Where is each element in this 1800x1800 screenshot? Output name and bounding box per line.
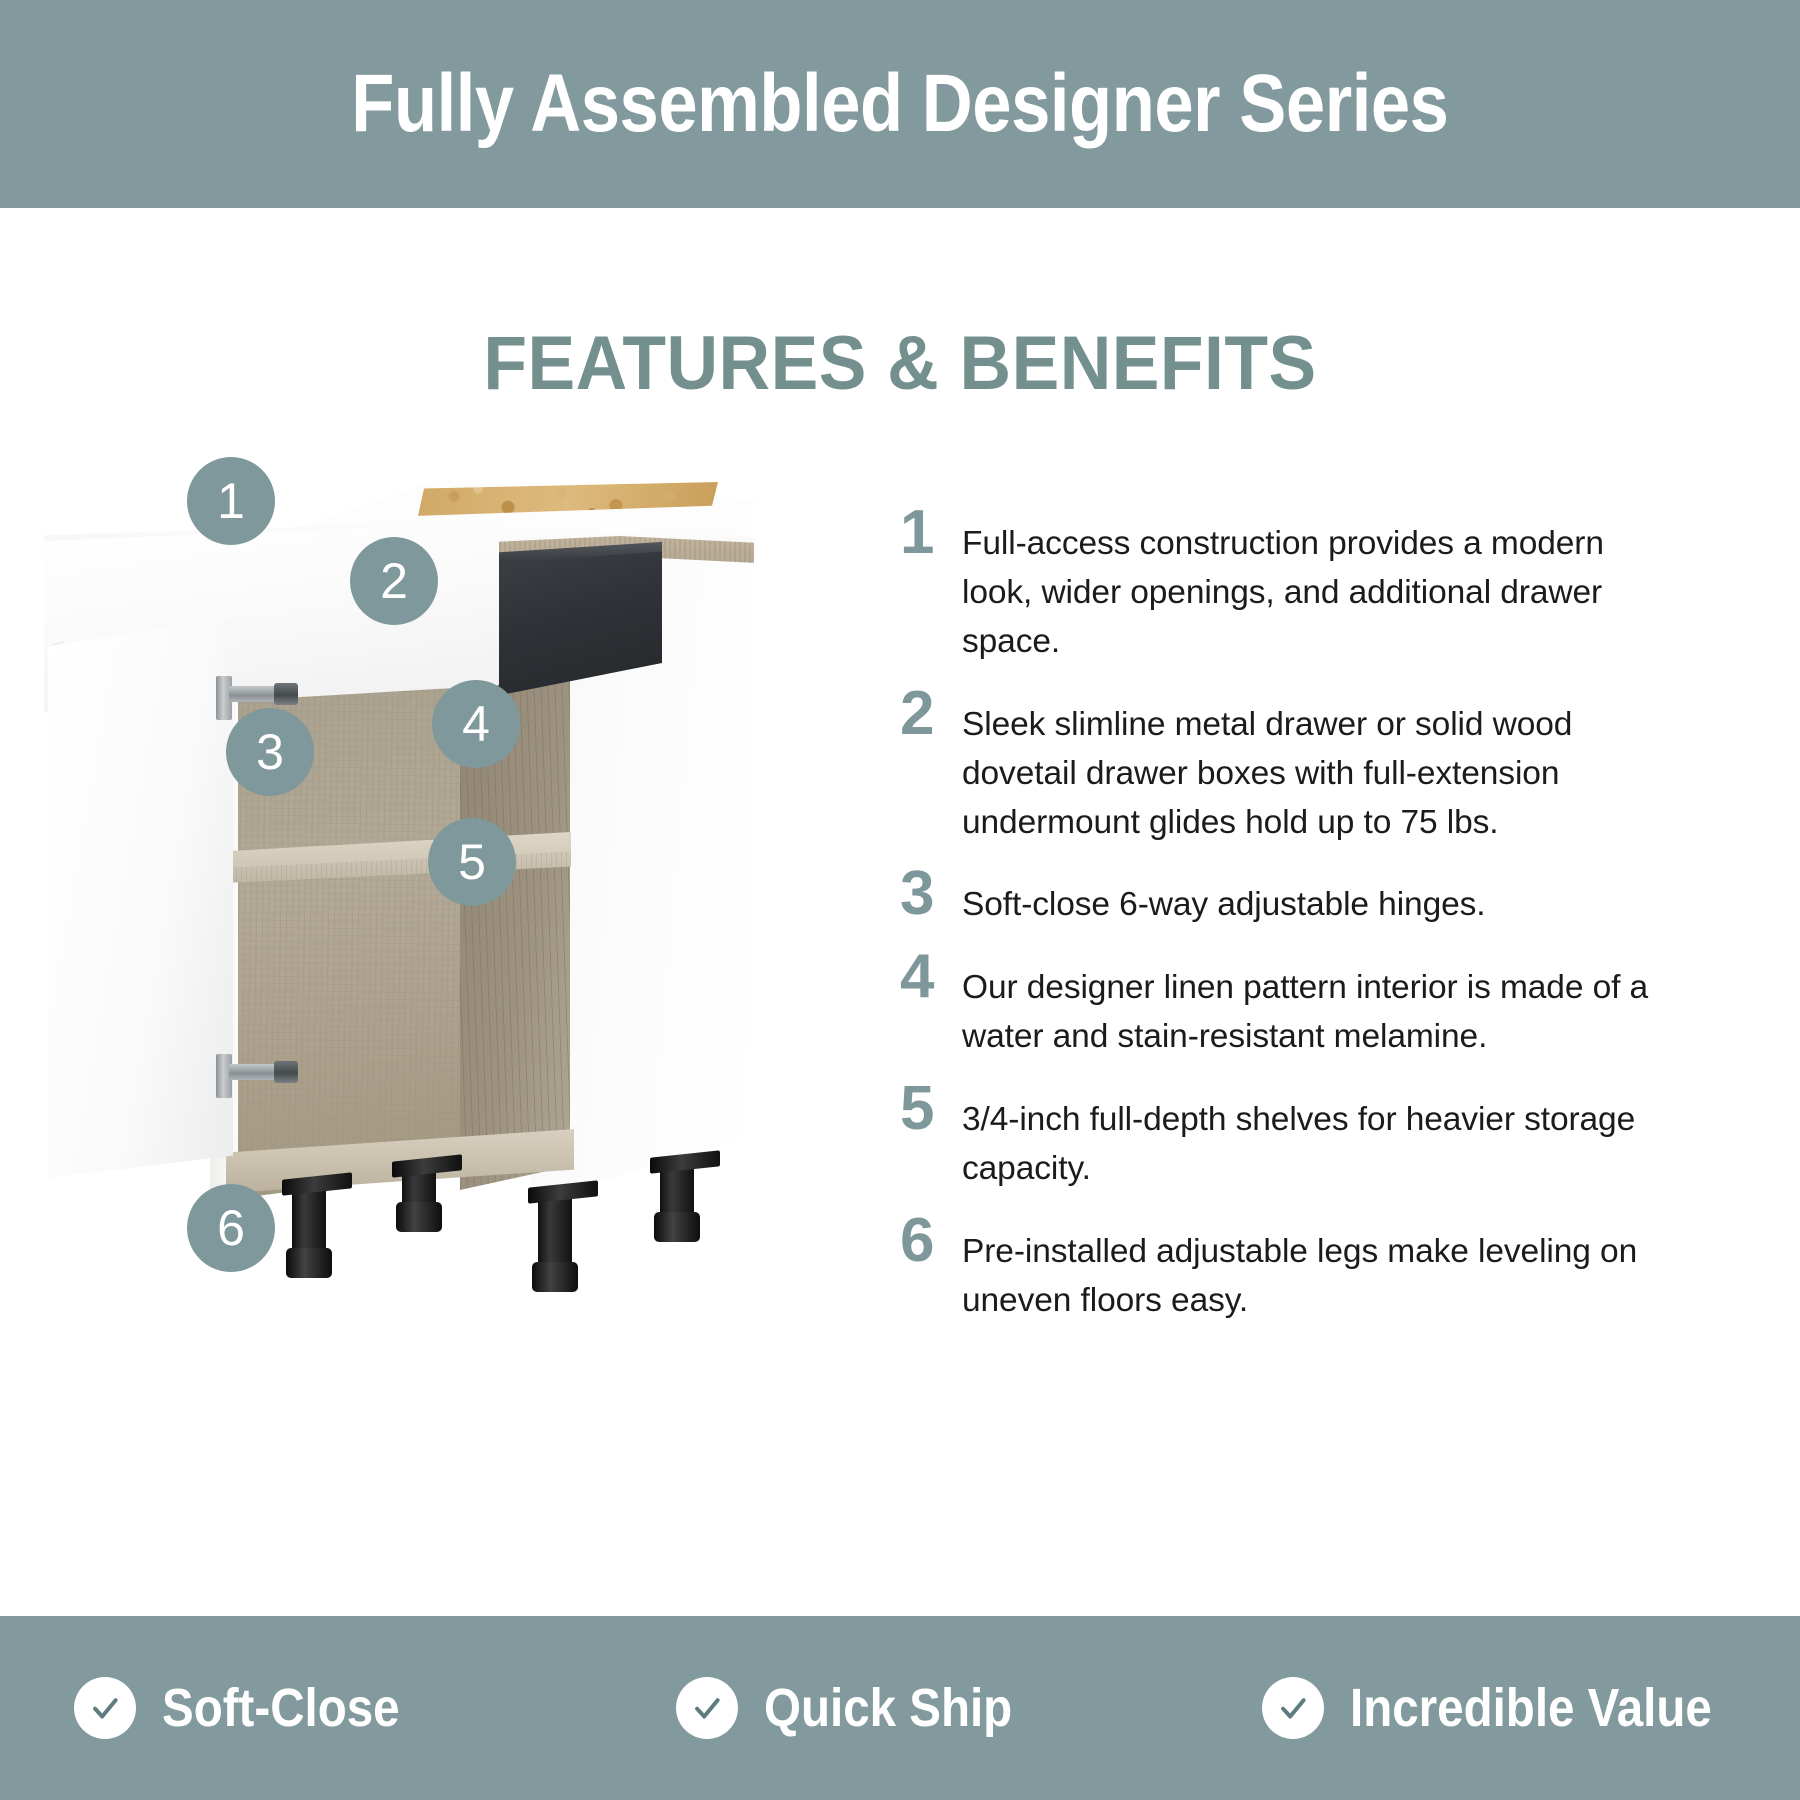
footer-badge-incredible-value: Incredible Value [1262,1677,1761,1739]
feature-item-1: 1 Full-access construction provides a mo… [900,508,1660,667]
feature-item-2: 2 Sleek slimline metal drawer or solid w… [900,689,1660,848]
product-illustration: 1 2 3 4 5 6 [30,440,820,1360]
feature-number-1: 1 [900,504,962,561]
feature-item-6: 6 Pre-installed adjustable legs make lev… [900,1216,1660,1326]
footer-badge-label: Soft-Close [162,1677,400,1739]
feature-text-5: 3/4-inch full-depth shelves for heavier … [962,1084,1660,1194]
page-title: Fully Assembled Designer Series [351,57,1448,151]
callout-marker-4: 4 [432,680,520,768]
leg-foot [532,1262,578,1292]
callout-marker-5: 5 [428,818,516,906]
feature-text-6: Pre-installed adjustable legs make level… [962,1216,1660,1326]
header-bar: Fully Assembled Designer Series [0,0,1800,208]
feature-number-2: 2 [900,685,962,742]
section-title: FEATURES & BENEFITS [54,320,1746,407]
callout-marker-3: 3 [226,708,314,796]
feature-number-3: 3 [900,865,962,922]
check-circle-icon [1262,1677,1324,1739]
feature-list: 1 Full-access construction provides a mo… [900,508,1660,1348]
feature-text-2: Sleek slimline metal drawer or solid woo… [962,689,1660,848]
adjustable-leg [292,1188,326,1274]
marketing-infographic: Fully Assembled Designer Series FEATURES… [0,0,1800,1800]
leg-foot [654,1212,700,1242]
footer-badge-label: Quick Ship [764,1677,1012,1739]
leg-foot [286,1248,332,1278]
footer-bar: Soft-Close Quick Ship Incredible Value [0,1616,1800,1800]
feature-text-1: Full-access construction provides a mode… [962,508,1660,667]
hinge-cup [274,1061,298,1083]
footer-badge-soft-close: Soft-Close [74,1677,432,1739]
feature-item-5: 5 3/4-inch full-depth shelves for heavie… [900,1084,1660,1194]
callout-marker-1: 1 [187,457,275,545]
feature-number-6: 6 [900,1212,962,1269]
feature-number-5: 5 [900,1080,962,1137]
footer-badge-quick-ship: Quick Ship [676,1677,1046,1739]
feature-text-4: Our designer linen pattern interior is m… [962,952,1660,1062]
feature-text-3: Soft-close 6-way adjustable hinges. [962,869,1660,930]
footer-badge-label: Incredible Value [1350,1677,1712,1739]
adjustable-leg [538,1196,572,1288]
leg-foot [396,1202,442,1232]
soft-close-hinge-bottom [216,1048,302,1100]
feature-item-4: 4 Our designer linen pattern interior is… [900,952,1660,1062]
adjustable-leg [660,1166,694,1238]
adjustable-leg [402,1170,436,1228]
feature-item-3: 3 Soft-close 6-way adjustable hinges. [900,869,1660,930]
feature-number-4: 4 [900,948,962,1005]
callout-marker-6: 6 [187,1184,275,1272]
cabinet-door-panel [48,618,233,1178]
check-circle-icon [676,1677,738,1739]
hinge-cup [274,683,298,705]
check-circle-icon [74,1677,136,1739]
callout-marker-2: 2 [350,537,438,625]
